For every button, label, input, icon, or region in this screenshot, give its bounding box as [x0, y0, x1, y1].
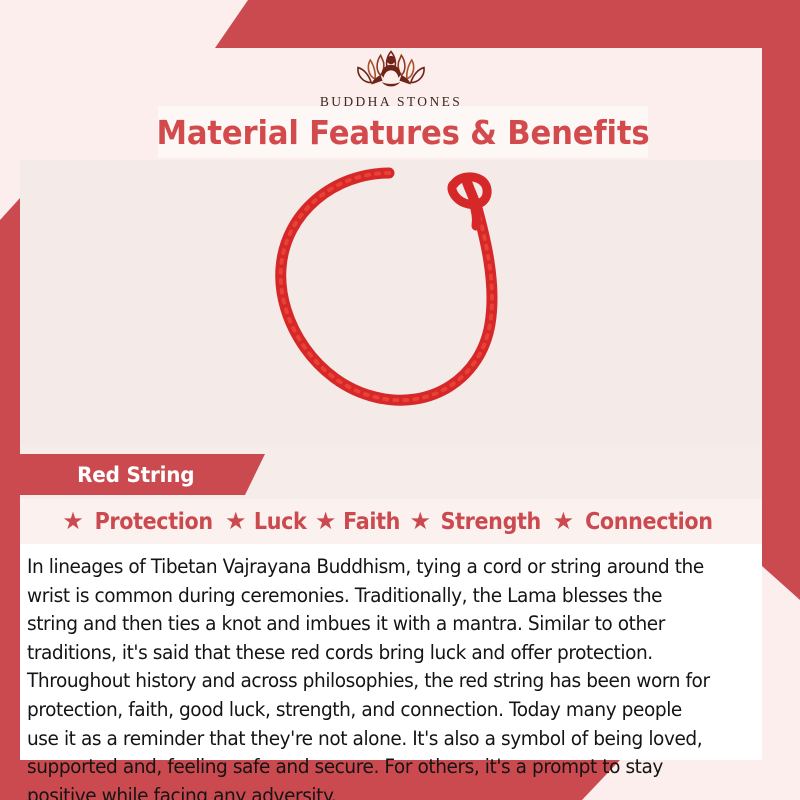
benefit-label: Luck	[253, 509, 306, 535]
star-icon: ★	[225, 510, 247, 534]
star-icon: ★	[553, 510, 575, 534]
page-title-band: Material Features & Benefits	[158, 106, 648, 158]
benefit-item-faith: ★ Faith	[315, 509, 404, 535]
benefits-list: ★ Protection ★ Luck ★ Faith ★ Strength ★…	[20, 499, 762, 544]
content-card: BUDDHA STONES Material Features & Benefi…	[20, 48, 762, 760]
benefit-label: Faith	[344, 509, 401, 535]
product-tag-row: Red String	[20, 445, 762, 499]
lotus-meditation-icon	[325, 44, 457, 93]
benefit-label: Strength	[441, 509, 541, 535]
infographic-page: BUDDHA STONES Material Features & Benefi…	[0, 0, 800, 800]
benefit-item-protection: ★ Protection	[62, 509, 219, 535]
product-image	[20, 160, 762, 445]
star-icon: ★	[410, 510, 432, 534]
benefit-label: Connection	[585, 509, 713, 535]
benefit-item-connection: ★ Connection	[553, 509, 720, 535]
benefit-item-luck: ★ Luck	[225, 509, 309, 535]
product-tag: Red String	[20, 454, 265, 495]
decor-band-left	[0, 198, 20, 800]
decor-band-right	[762, 0, 800, 600]
benefit-item-strength: ★ Strength	[410, 509, 547, 535]
benefit-label: Protection	[94, 509, 212, 535]
brand-logo: BUDDHA STONES	[20, 48, 762, 110]
star-icon: ★	[62, 510, 84, 534]
star-icon: ★	[315, 510, 337, 534]
red-string-bracelet-illustration	[241, 164, 541, 442]
decor-band-top	[215, 0, 800, 48]
page-title: Material Features & Benefits	[157, 113, 650, 152]
description-text: In lineages of Tibetan Vajrayana Buddhis…	[27, 553, 716, 800]
product-tag-label: Red String	[77, 463, 194, 487]
description-block: In lineages of Tibetan Vajrayana Buddhis…	[20, 544, 762, 760]
